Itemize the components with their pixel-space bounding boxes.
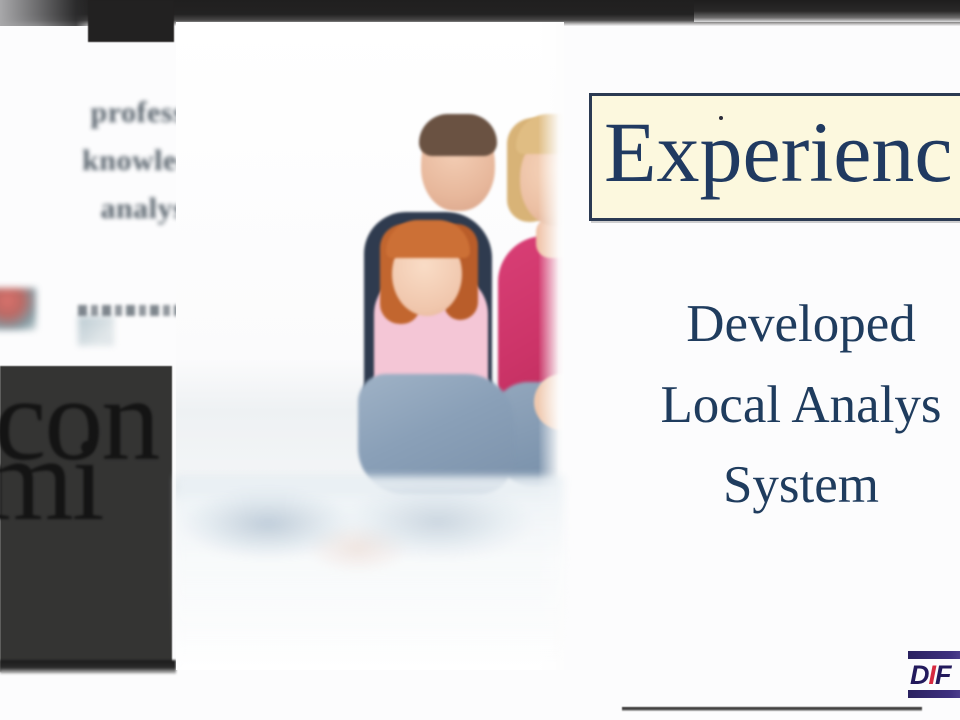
girl-left-hair-top [386, 220, 470, 258]
logo-bar-top [908, 651, 960, 659]
page-title: Experienc [604, 100, 953, 205]
top-dark-band-right [694, 0, 960, 22]
background-doc-thumbnail-secondary [78, 316, 114, 346]
background-doc-line-3: analysi [0, 192, 194, 226]
hands [534, 374, 564, 430]
logo-bar-bottom [908, 690, 960, 698]
slide-body-copy: Developed Local Analys System [586, 284, 960, 526]
dark-panel-shadow [0, 660, 176, 674]
floor-reflection [176, 476, 564, 666]
logo-letter-d: D [910, 660, 929, 690]
body-line-2: Local Analys [586, 365, 960, 446]
dark-panel-letters-bottom: mi [0, 432, 103, 529]
background-doc-line-1: professi [0, 96, 194, 130]
mother-neck [536, 218, 564, 258]
background-doc-thumbnail [0, 288, 36, 330]
background-doc-line-2: knowled [0, 144, 194, 178]
logo-letter-f: F [935, 660, 951, 690]
body-line-1: Developed [586, 284, 960, 365]
top-band-left-fade [0, 0, 95, 26]
father-hair [419, 114, 497, 156]
video-slide-frame: professi knowled analysi con mi [0, 0, 960, 720]
slide-title-box: Experienc [589, 93, 960, 221]
background-doc-microtext [78, 305, 188, 316]
top-dark-block [88, 0, 174, 42]
logo-wordmark: DIF [910, 660, 951, 691]
brand-logo: DIF [908, 650, 960, 700]
bottom-horizontal-rule [622, 707, 922, 711]
body-line-3: System [586, 445, 960, 526]
dust-speck [719, 116, 723, 120]
